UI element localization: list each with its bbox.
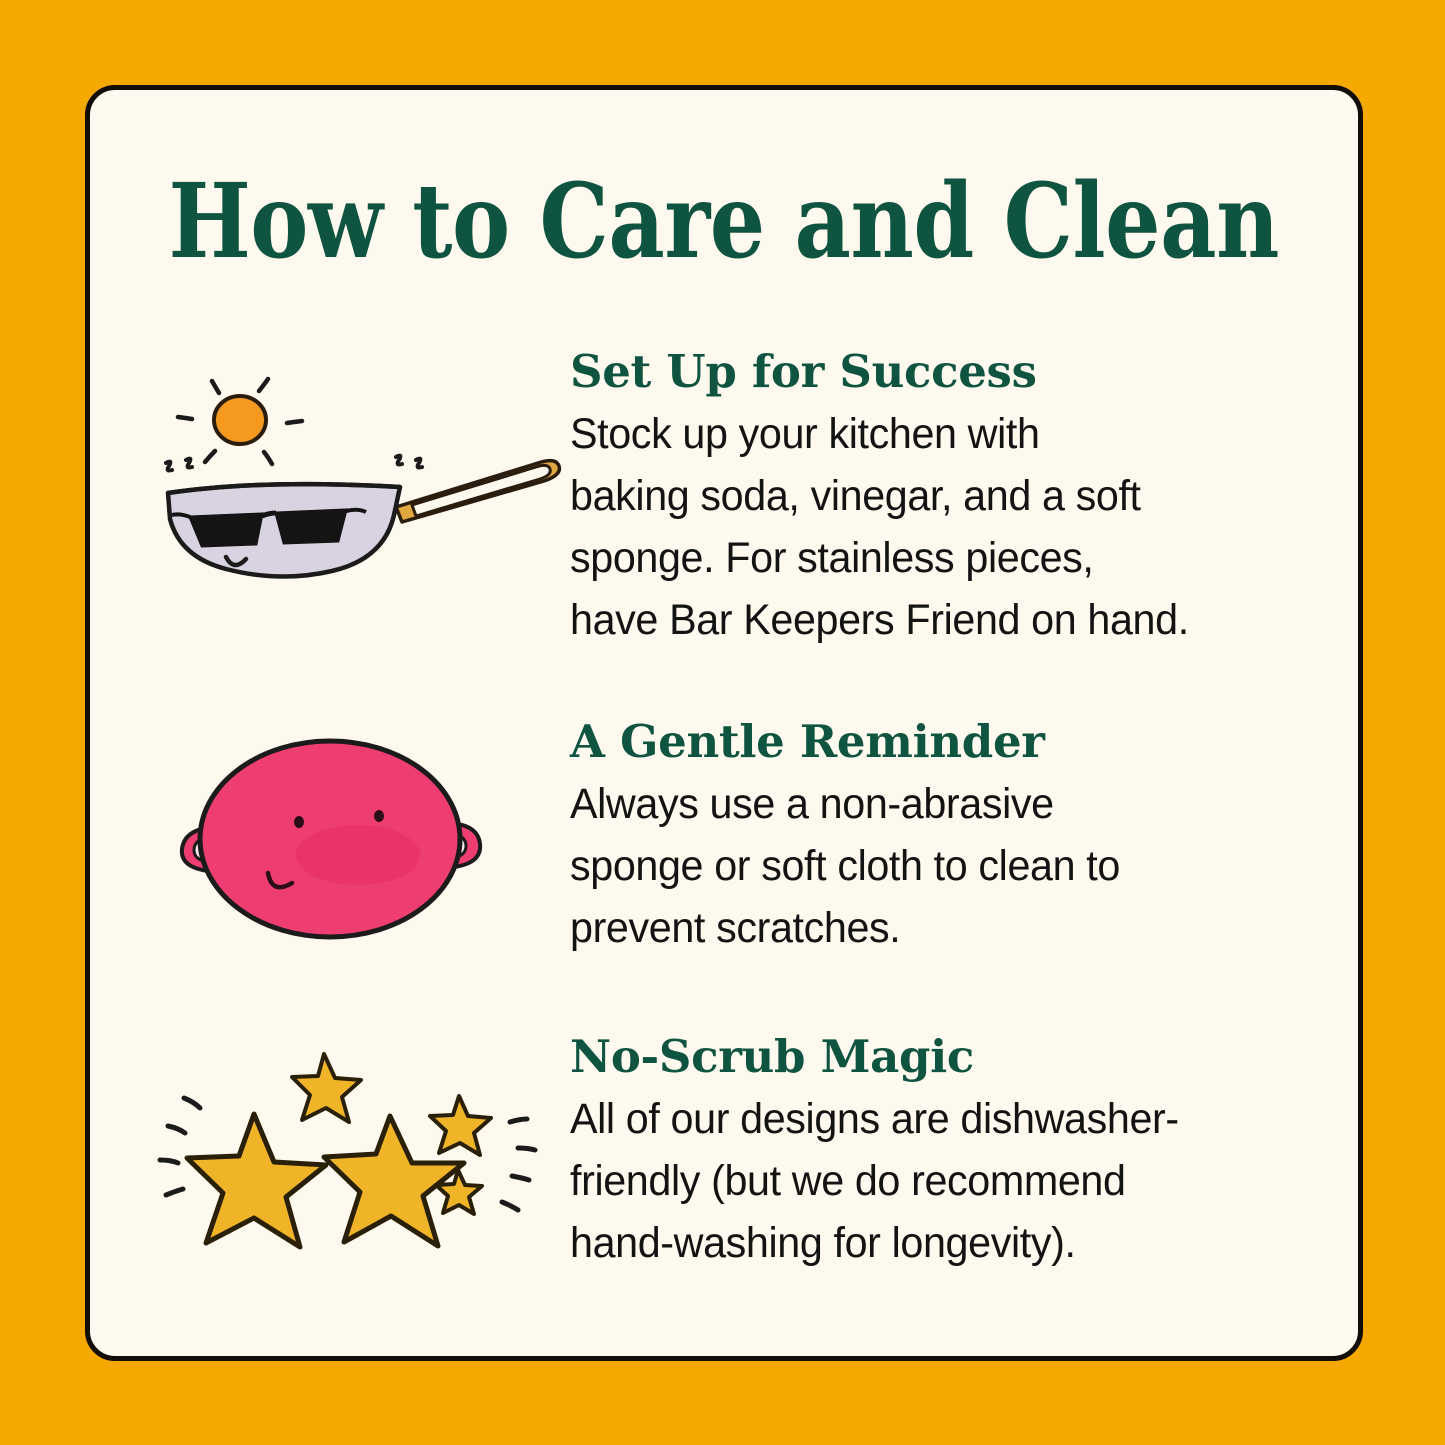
frying-pan-with-sunglasses-icon (150, 345, 570, 595)
body-line: have Bar Keepers Friend on hand. (570, 590, 1280, 652)
sparkle-stars-icon (150, 1030, 570, 1280)
pan-smile-icon (226, 557, 246, 565)
text-block-1: Set Up for Success Stock up your kitchen… (570, 345, 1310, 652)
illustration-slot-2 (150, 715, 570, 965)
star-large-left-icon (187, 1114, 326, 1247)
pink-sponge-face-icon (150, 715, 570, 965)
body-line: All of our designs are dishwasher- (570, 1089, 1280, 1151)
section-body-1: Stock up your kitchen with baking soda, … (570, 404, 1280, 652)
body-line: sponge or soft cloth to clean to (570, 836, 1280, 898)
star-small-top-icon (292, 1054, 361, 1122)
sun-disc-icon (214, 396, 266, 444)
poster-canvas: How to Care and Clean (0, 0, 1445, 1445)
sponge-blush-icon (296, 825, 420, 885)
section-body-3: All of our designs are dishwasher- frien… (570, 1089, 1280, 1275)
page-title-text: How to Care and Clean (169, 168, 1280, 276)
star-tiny-lower-right-icon (436, 1170, 482, 1214)
section-body-2: Always use a non-abrasive sponge or soft… (570, 774, 1280, 960)
body-line: friendly (but we do recommend (570, 1151, 1280, 1213)
page-title: How to Care and Clean (90, 168, 1358, 276)
pan-sunglasses-icon (172, 510, 366, 546)
sponge-eye-left-icon (294, 816, 304, 828)
body-line: Stock up your kitchen with (570, 404, 1280, 466)
body-line: sponge. For stainless pieces, (570, 528, 1280, 590)
sponge-ear-left-icon (182, 827, 228, 871)
sun-rays-icon (178, 379, 302, 464)
pan-body-icon (168, 484, 400, 576)
star-large-right-icon (324, 1116, 464, 1246)
section-set-up-for-success: Set Up for Success Stock up your kitchen… (150, 345, 1310, 652)
sparkle-dashes-left-icon (160, 1098, 200, 1195)
sparkle-dashes-right-icon (502, 1119, 535, 1210)
steam-squiggles-left-icon (166, 459, 192, 471)
illustration-slot-1 (150, 345, 570, 595)
section-no-scrub-magic: No-Scrub Magic All of our designs are di… (150, 1030, 1310, 1280)
text-block-3: No-Scrub Magic All of our designs are di… (570, 1030, 1310, 1275)
steam-squiggles-right-icon (396, 456, 422, 468)
care-instructions-card: How to Care and Clean (85, 85, 1363, 1361)
sponge-ear-left-inner-icon (194, 837, 208, 862)
star-small-upper-right-icon (430, 1096, 491, 1155)
section-heading-3: No-Scrub Magic (570, 1032, 1310, 1082)
sponge-eye-right-icon (374, 810, 384, 822)
section-heading-1: Set Up for Success (570, 347, 1310, 397)
sponge-ear-right-icon (434, 823, 480, 867)
body-line: Always use a non-abrasive (570, 774, 1280, 836)
pan-rim-icon (168, 484, 400, 493)
sponge-smile-icon (268, 873, 292, 887)
pan-handle-icon (396, 461, 559, 522)
body-line: prevent scratches. (570, 898, 1280, 960)
text-block-2: A Gentle Reminder Always use a non-abras… (570, 715, 1310, 960)
body-line: baking soda, vinegar, and a soft (570, 466, 1280, 528)
illustration-slot-3 (150, 1030, 570, 1280)
section-a-gentle-reminder: A Gentle Reminder Always use a non-abras… (150, 715, 1310, 965)
sponge-body-icon (200, 741, 460, 937)
body-line: hand-washing for longevity). (570, 1213, 1280, 1275)
section-heading-2: A Gentle Reminder (570, 717, 1310, 767)
sponge-ear-right-inner-icon (452, 833, 466, 858)
